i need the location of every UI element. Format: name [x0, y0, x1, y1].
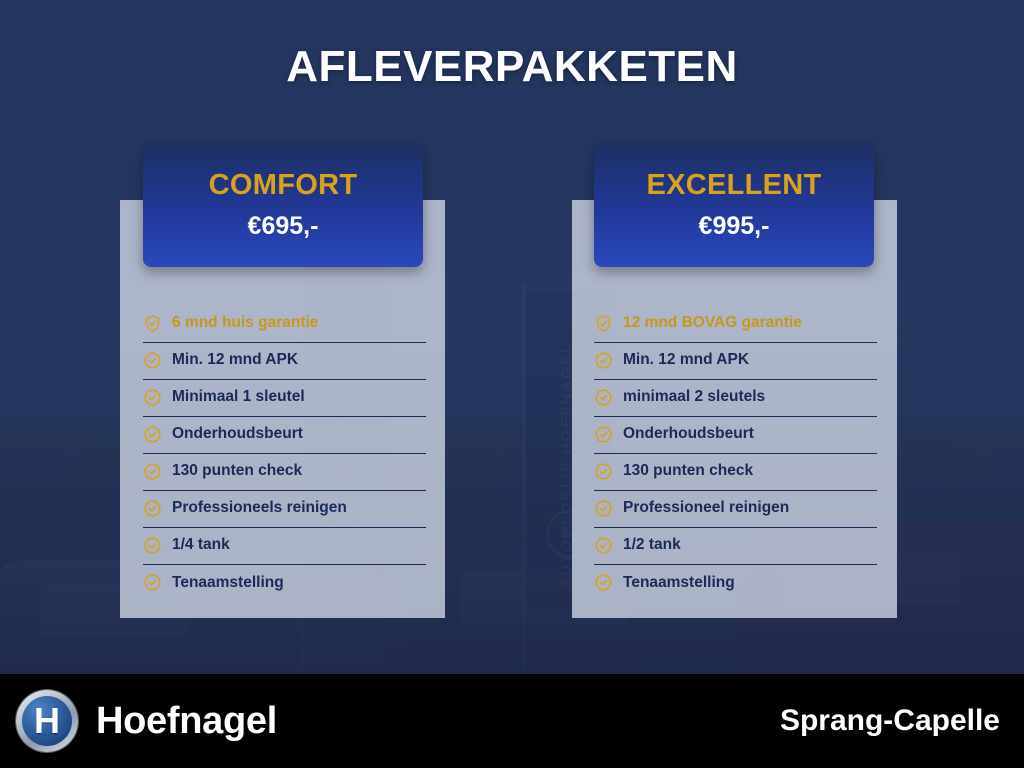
circle-check-icon: [594, 425, 613, 444]
feature-label: Onderhoudsbeurt: [623, 425, 754, 443]
feature-label: 12 mnd BOVAG garantie: [623, 314, 802, 332]
shield-check-icon: [143, 314, 162, 333]
feature-label: Min. 12 mnd APK: [623, 351, 749, 369]
feature-label: minimaal 2 sleutels: [623, 388, 765, 406]
circle-check-icon: [143, 388, 162, 407]
circle-check-icon: [594, 388, 613, 407]
brand-name: Hoefnagel: [96, 700, 277, 743]
footer-location: Sprang-Capelle: [780, 704, 1000, 738]
logo-disc: H: [22, 696, 72, 746]
feature-label: 130 punten check: [172, 462, 302, 480]
feature-label: Tenaamstelling: [623, 574, 735, 592]
feature-item: 130 punten check: [143, 454, 426, 491]
feature-label: Min. 12 mnd APK: [172, 351, 298, 369]
feature-item: 6 mnd huis garantie: [143, 306, 426, 343]
promo-slide: AUTOBEDRIJF HOEFNAGEL AUTOBEDRIJF HOEFNA…: [0, 0, 1024, 768]
circle-check-icon: [143, 462, 162, 481]
feature-label: 130 punten check: [623, 462, 753, 480]
feature-item: Professioneels reinigen: [143, 491, 426, 528]
circle-check-icon: [143, 425, 162, 444]
feature-item: 1/2 tank: [594, 528, 877, 565]
feature-item: Min. 12 mnd APK: [143, 343, 426, 380]
package-header-comfort: COMFORT €695,-: [143, 143, 423, 267]
package-name-excellent: EXCELLENT: [646, 169, 821, 202]
package-price-excellent: €995,-: [699, 212, 770, 241]
feature-item: 130 punten check: [594, 454, 877, 491]
feature-label: Professioneel reinigen: [623, 499, 789, 517]
feature-item: minimaal 2 sleutels: [594, 380, 877, 417]
feature-item: 1/4 tank: [143, 528, 426, 565]
page-title: AFLEVERPAKKETEN: [0, 42, 1024, 92]
feature-item: Onderhoudsbeurt: [143, 417, 426, 454]
package-name-comfort: COMFORT: [209, 169, 358, 202]
circle-check-icon: [594, 536, 613, 555]
brand-block: H Hoefnagel: [16, 690, 277, 752]
shield-check-icon: [594, 314, 613, 333]
circle-check-icon: [594, 351, 613, 370]
feature-item: Min. 12 mnd APK: [594, 343, 877, 380]
feature-item: Professioneel reinigen: [594, 491, 877, 528]
feature-list-comfort: 6 mnd huis garantieMin. 12 mnd APKMinima…: [143, 306, 426, 602]
feature-item: Tenaamstelling: [143, 565, 426, 602]
feature-label: 6 mnd huis garantie: [172, 314, 318, 332]
feature-label: Professioneels reinigen: [172, 499, 347, 517]
feature-label: Minimaal 1 sleutel: [172, 388, 305, 406]
package-price-comfort: €695,-: [248, 212, 319, 241]
footer-bar: H Hoefnagel Sprang-Capelle: [0, 674, 1024, 768]
circle-check-icon: [143, 351, 162, 370]
circle-check-icon: [143, 573, 162, 592]
feature-item: Minimaal 1 sleutel: [143, 380, 426, 417]
circle-check-icon: [143, 499, 162, 518]
feature-label: Onderhoudsbeurt: [172, 425, 303, 443]
circle-check-icon: [594, 499, 613, 518]
feature-item: Onderhoudsbeurt: [594, 417, 877, 454]
hoefnagel-logo-icon: H: [16, 690, 78, 752]
circle-check-icon: [594, 462, 613, 481]
circle-check-icon: [143, 536, 162, 555]
logo-letter: H: [34, 703, 60, 739]
feature-item: 12 mnd BOVAG garantie: [594, 306, 877, 343]
feature-list-excellent: 12 mnd BOVAG garantieMin. 12 mnd APKmini…: [594, 306, 877, 602]
feature-label: 1/4 tank: [172, 536, 230, 554]
circle-check-icon: [594, 573, 613, 592]
package-header-excellent: EXCELLENT €995,-: [594, 143, 874, 267]
feature-label: Tenaamstelling: [172, 574, 284, 592]
feature-item: Tenaamstelling: [594, 565, 877, 602]
feature-label: 1/2 tank: [623, 536, 681, 554]
